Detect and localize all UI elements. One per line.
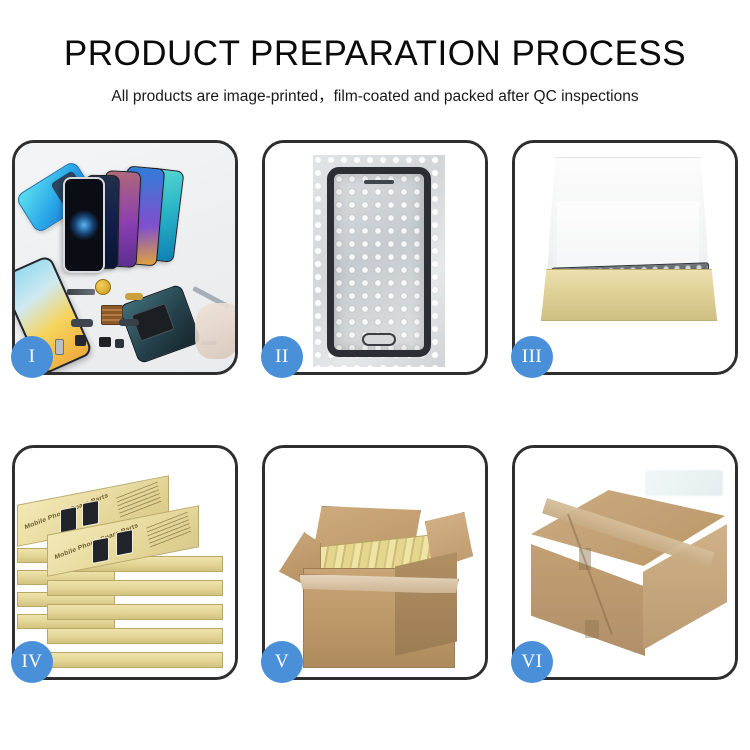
hand-holding-phone	[195, 303, 235, 359]
phone-screen-front	[63, 177, 105, 273]
box-artwork-screen-2	[82, 500, 99, 527]
box-edge-r5	[47, 652, 223, 668]
small-component-2	[99, 337, 111, 347]
box-edge-r2	[47, 580, 223, 596]
step-3-image	[515, 143, 735, 372]
box-artwork-screen-3	[92, 537, 109, 564]
product-preparation-infographic: PRODUCT PREPARATION PROCESS All products…	[0, 0, 750, 750]
small-component-1	[75, 335, 86, 346]
foam-insert	[557, 201, 699, 273]
step-1-image	[15, 143, 235, 372]
process-step-grid: I II III	[12, 140, 738, 680]
vibration-motor-part	[95, 279, 111, 295]
box-spec-lines-front	[146, 512, 192, 551]
step-card-5: V	[262, 445, 488, 680]
step-4-image: Mobile Phone Spare Parts Mobile Phone Sp…	[15, 448, 235, 677]
box-edge-r3	[47, 604, 223, 620]
home-button-icon	[362, 333, 396, 346]
carton-handle-notch-bottom	[585, 620, 599, 638]
kraft-box-tray	[541, 269, 717, 321]
box-stack: Mobile Phone Spare Parts Mobile Phone Sp…	[15, 448, 235, 677]
wrapped-screen	[327, 167, 431, 357]
carton-side	[395, 552, 457, 656]
sim-tray-part	[55, 339, 64, 355]
step-card-3: III	[512, 140, 738, 375]
step-badge-5: V	[261, 641, 303, 683]
header: PRODUCT PREPARATION PROCESS All products…	[0, 0, 750, 106]
step-card-4: Mobile Phone Spare Parts Mobile Phone Sp…	[12, 445, 238, 680]
step-badge-4: IV	[11, 641, 53, 683]
box-artwork-screen-4	[116, 529, 133, 556]
small-component-3	[115, 339, 124, 348]
carton-handle-notch-top	[579, 548, 591, 570]
step-card-2: II	[262, 140, 488, 375]
step-badge-6: VI	[511, 641, 553, 683]
step-card-6: VI	[512, 445, 738, 680]
step-badge-1: I	[11, 336, 53, 378]
step-card-1: I	[12, 140, 238, 375]
step-2-image	[265, 143, 485, 372]
page-subtitle: All products are image-printed，film-coat…	[0, 84, 750, 106]
step-badge-3: III	[511, 336, 553, 378]
flex-cable-part-3	[119, 319, 139, 326]
flex-cable-part-2	[125, 293, 143, 300]
earpiece-icon	[364, 180, 394, 184]
step-6-image	[515, 448, 735, 677]
step-5-image	[265, 448, 485, 677]
flex-cable-part-1	[71, 319, 93, 327]
stretch-film	[645, 470, 723, 496]
flex-strip-part	[67, 289, 95, 295]
step-badge-2: II	[261, 336, 303, 378]
page-title: PRODUCT PREPARATION PROCESS	[0, 34, 750, 74]
box-edge-r4	[47, 628, 223, 644]
